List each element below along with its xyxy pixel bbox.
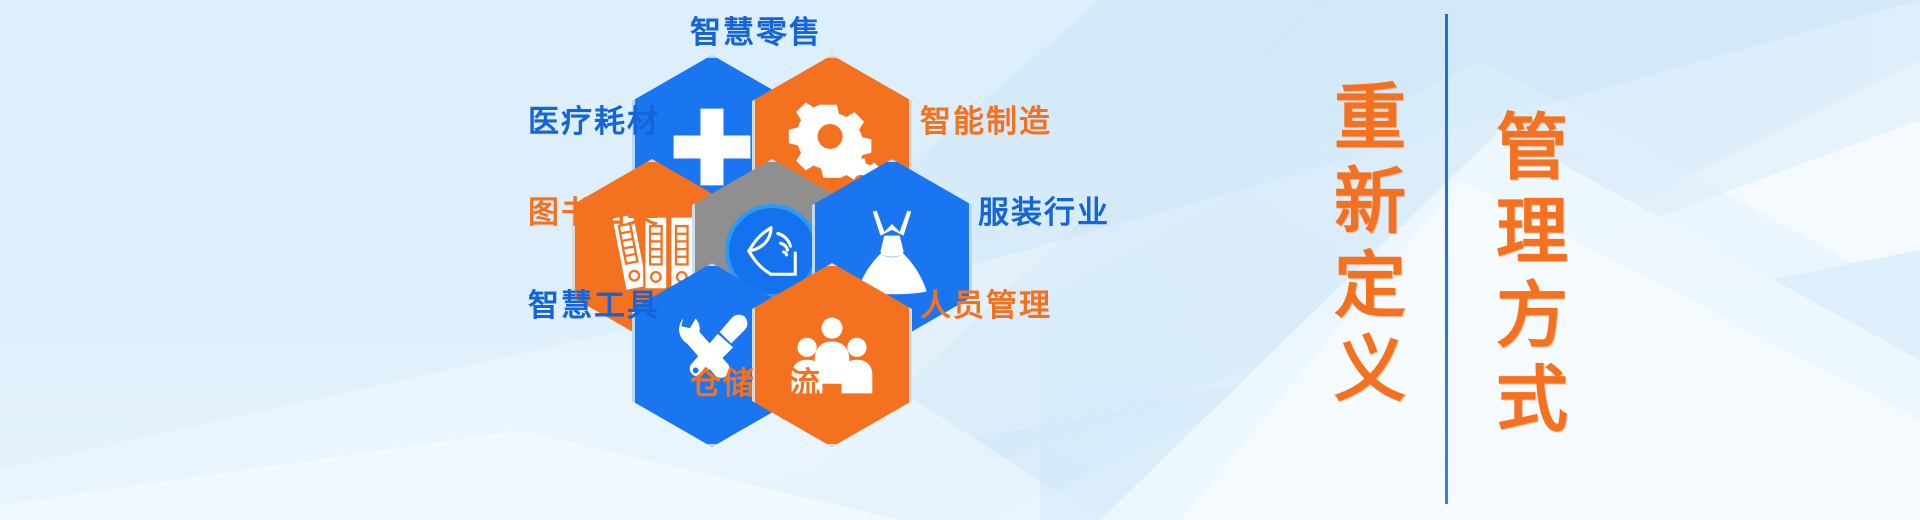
slogan-column-left: 重新定义	[1308, 12, 1418, 482]
label-library-archive: 图书档案	[410, 197, 660, 228]
label-medical-supplies: 医疗耗材	[470, 106, 660, 137]
label-smart-manufacturing: 智能制造	[920, 106, 1052, 137]
slogan-column-right: 管理方式	[1470, 42, 1580, 512]
label-warehouse-logistics: 仓储物流	[690, 368, 822, 399]
label-smart-retail: 智慧零售	[690, 17, 822, 48]
slogan-divider	[1445, 14, 1448, 504]
label-apparel-industry: 服装行业	[978, 197, 1110, 228]
label-smart-tools: 智慧工具	[470, 290, 660, 321]
slogan-block: 重新定义 管理方式	[1290, 0, 1650, 520]
promo-banner: 智慧零售 医疗耗材 智能制造 图书档案 服装行业 智慧工具 人员管理 仓储物流 …	[0, 0, 1920, 520]
label-personnel-management: 人员管理	[920, 290, 1052, 321]
